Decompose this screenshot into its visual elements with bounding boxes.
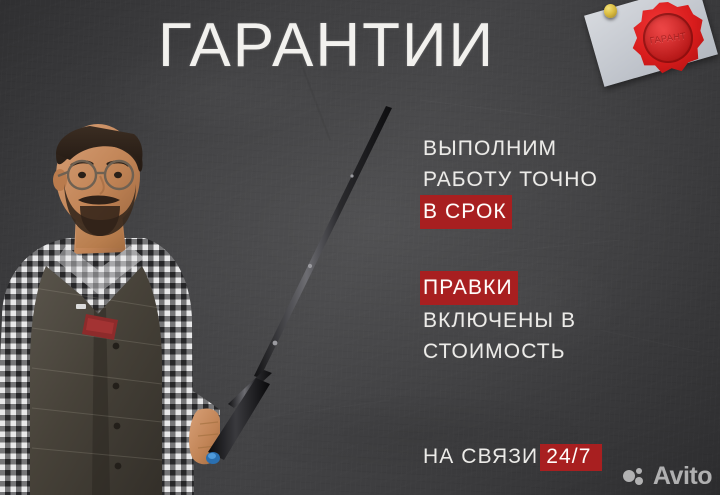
guarantees-banner: ГАРАНТИИ ГАРАНТ — [0, 0, 720, 495]
pointer-stick — [180, 88, 410, 480]
claims-list: ВЫПОЛНИМ РАБОТУ ТОЧНО В СРОК ПРАВКИ ВКЛЮ… — [423, 133, 681, 367]
claim-line: ВКЛЮЧЕНЫ В — [423, 305, 681, 336]
claim-line: ПРАВКИ — [423, 271, 681, 305]
claim-line: ВЫПОЛНИМ — [423, 133, 681, 164]
claim-text: ВКЛЮЧЕНЫ В — [423, 309, 576, 332]
claim-text: СТОИМОСТЬ — [423, 340, 566, 363]
availability-text: НА СВЯЗИ — [423, 445, 538, 468]
avito-logo-icon — [623, 466, 649, 488]
avito-watermark: Avito — [623, 464, 712, 489]
claim-text: РАБОТУ ТОЧНО — [423, 168, 598, 191]
avito-wordmark: Avito — [653, 464, 712, 489]
claim-line: В СРОК — [423, 195, 681, 229]
claim-line: РАБОТУ ТОЧНО — [423, 164, 681, 195]
page-title: ГАРАНТИИ — [158, 15, 495, 77]
claim-highlight: В СРОК — [420, 195, 512, 229]
claim-block: ВЫПОЛНИМ РАБОТУ ТОЧНО В СРОК — [423, 133, 681, 229]
claim-text: ВЫПОЛНИМ — [423, 137, 557, 160]
pinned-certificate: ГАРАНТ — [588, 0, 720, 104]
claim-block: ПРАВКИ ВКЛЮЧЕНЫ В СТОИМОСТЬ — [423, 271, 681, 367]
availability-highlight: 24/7 — [540, 444, 601, 471]
claim-line: СТОИМОСТЬ — [423, 336, 681, 367]
pushpin-icon — [604, 4, 617, 18]
claim-highlight: ПРАВКИ — [420, 271, 518, 305]
